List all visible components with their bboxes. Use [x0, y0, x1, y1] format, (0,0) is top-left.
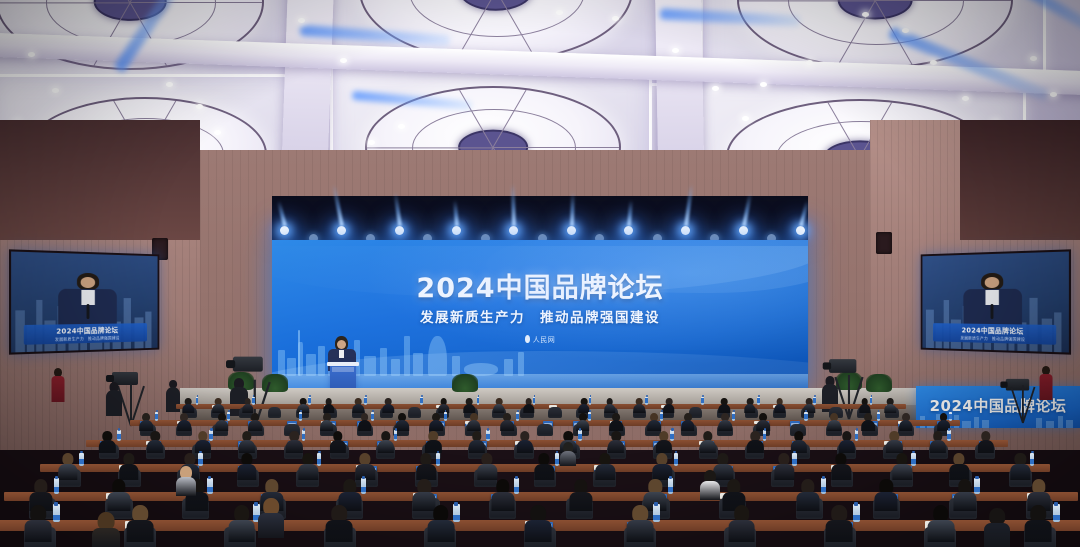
audience-member: [950, 453, 969, 479]
audience-member: [647, 413, 661, 432]
bottle-cap: [487, 428, 489, 430]
disc-spoke: [493, 147, 621, 148]
bottle-cap: [661, 410, 663, 412]
water-bottle: [804, 412, 807, 421]
attendee-body: [119, 464, 138, 480]
bottle-cap: [478, 395, 480, 397]
audience-member: [463, 398, 474, 414]
audience-member: [576, 413, 590, 432]
ceiling-downlight: [166, 82, 173, 87]
bottle-cap: [300, 410, 302, 412]
stage-lamp: [509, 226, 518, 235]
water-bottle: [853, 504, 859, 522]
audience-member: [828, 413, 842, 432]
attendee-body: [477, 464, 496, 480]
audience-member: [610, 413, 624, 432]
attendee-body: [195, 440, 211, 453]
microphone-icon: [87, 304, 90, 319]
attendee-body: [634, 404, 645, 413]
attendee-body: [238, 440, 254, 453]
attendee-body: [1025, 520, 1052, 542]
ceiling-downlight: [340, 58, 347, 63]
forum-subtitle: 发展新质生产力 推动品牌强国建设: [272, 306, 808, 326]
bottle-cap: [365, 395, 367, 397]
disc-spoke: [737, 0, 875, 1]
water-bottle: [79, 453, 83, 466]
water-bottle: [653, 504, 659, 522]
attendee-body: [1011, 464, 1030, 480]
attendee-body: [744, 404, 755, 413]
audience-member: [382, 398, 393, 414]
audience-member: [330, 431, 346, 453]
audience-member: [1025, 505, 1052, 542]
audience-desk: [86, 440, 1008, 447]
water-bottle: [516, 412, 519, 421]
audience-member: [1011, 453, 1030, 479]
side-screen-speaker-face: [81, 277, 96, 288]
stage-light-beam: [277, 200, 287, 226]
bottle-cap: [517, 410, 519, 412]
water-bottle: [855, 430, 859, 441]
side-screen-speaker-face: [985, 277, 1000, 288]
stage-lamp: [739, 226, 748, 235]
audience-member: [355, 453, 374, 479]
bottle-cap: [948, 428, 950, 430]
audience-member: [500, 413, 514, 432]
audience-member: [25, 505, 52, 542]
ceiling-downlight: [298, 18, 305, 23]
water-bottle: [821, 478, 826, 494]
ceiling-downlight: [556, 10, 563, 15]
stage-light-beam: [393, 192, 402, 226]
water-bottle: [701, 397, 704, 405]
water-bottle: [436, 453, 440, 466]
ceiling-downlight: [672, 48, 679, 53]
attendee-body: [127, 520, 154, 542]
left-side-screen: 2024中国品牌论坛 发展新质生产力 推动品牌强国建设: [9, 249, 159, 354]
right-side-screen: 2024中国品牌论坛 发展新质生产力 推动品牌强国建设: [921, 249, 1071, 354]
audience-member: [491, 479, 514, 511]
stage-plant: [866, 374, 892, 392]
attendee-body: [523, 404, 534, 413]
audience-member: [429, 413, 443, 432]
ceiling-downlight: [612, 16, 619, 21]
attendee-body: [425, 440, 441, 453]
water-bottle: [53, 504, 59, 522]
stage-light-beam: [570, 192, 575, 226]
audience-member: [535, 453, 554, 479]
bottle-cap: [764, 428, 766, 430]
audience-member: [228, 505, 255, 542]
banner-skyline-building: [974, 417, 979, 428]
banner-skyline-building: [1046, 421, 1054, 428]
conference-hall-photo: 2024中国品牌论坛 发展新质生产力 推动品牌强国建设 人民网 2024中国品牌…: [0, 0, 1080, 547]
camera-lens-icon: [1000, 382, 1007, 388]
attendee-body: [228, 520, 255, 542]
audience-member: [212, 398, 223, 414]
disc-spoke: [0, 2, 130, 3]
stage-lamp: [796, 226, 805, 235]
bottle-cap: [515, 476, 518, 479]
bottle-cap: [675, 451, 678, 454]
bottle-cap: [228, 410, 230, 412]
water-bottle: [196, 397, 199, 405]
ceiling-downlight: [742, 116, 749, 121]
operator-body: [106, 390, 122, 416]
audience-member: [183, 398, 194, 414]
stage-light-beam: [453, 200, 459, 226]
bottle-cap: [814, 395, 816, 397]
ceiling-downlight: [196, 104, 203, 109]
audience-member: [147, 431, 163, 453]
speaker-shirt: [339, 350, 344, 358]
attendee-body: [535, 464, 554, 480]
water-bottle: [477, 397, 480, 405]
bottle-cap: [556, 451, 559, 454]
audience-member: [569, 479, 592, 511]
right-wall-shadow: [960, 120, 1080, 240]
bottle-cap: [854, 502, 858, 506]
attendee-body: [627, 520, 654, 542]
audience-member: [747, 431, 763, 453]
audience-member: [656, 431, 672, 453]
attendee-body: [663, 404, 674, 413]
ceiling-downlight: [930, 60, 937, 65]
attendee-white-shirt: [700, 470, 720, 500]
water-bottle: [668, 478, 673, 494]
attendee-body: [99, 440, 115, 453]
attendee-body: [608, 440, 624, 453]
water-bottle: [514, 478, 519, 494]
audience-member: [467, 413, 481, 432]
attendee-body: [237, 464, 256, 480]
stage-light-beam: [799, 200, 809, 226]
audience-member: [627, 505, 654, 542]
water-bottle: [444, 412, 447, 421]
attendee-body: [298, 464, 317, 480]
stage-plant: [452, 374, 478, 392]
video-camera: [1006, 379, 1029, 391]
audience-member: [699, 431, 715, 453]
bottle-cap: [1031, 451, 1034, 454]
ceiling-downlight: [902, 28, 909, 33]
audience-member: [493, 398, 504, 414]
water-bottle: [947, 430, 951, 441]
attendee-body: [875, 492, 898, 511]
audience-member: [358, 413, 372, 432]
audience-member: [608, 431, 624, 453]
side-screen-speaker-shirt: [81, 289, 94, 304]
attendee-body: [610, 420, 624, 431]
attendee-body: [58, 464, 77, 480]
logo-text: 人民网: [533, 336, 556, 344]
attendee-body: [656, 440, 672, 453]
attendee-body: [719, 420, 733, 431]
banner-skyline-building: [982, 420, 989, 428]
attendee-body: [796, 492, 819, 511]
disc-spoke: [130, 2, 264, 3]
attendee-body: [382, 404, 393, 413]
water-bottle: [1030, 453, 1034, 466]
audience-member: [744, 398, 755, 414]
attendee-body: [930, 440, 946, 453]
attendee-body: [258, 513, 284, 538]
water-bottle: [645, 397, 648, 405]
attendee-body: [828, 420, 842, 431]
bottle-cap: [646, 395, 648, 397]
attendee-body: [525, 520, 552, 542]
attendee-body: [377, 440, 393, 453]
audience-member: [238, 431, 254, 453]
audience-member: [438, 398, 449, 414]
podium-top-surface: [327, 362, 359, 366]
audience-member: [140, 413, 154, 432]
stage-lamp: [624, 226, 633, 235]
water-bottle: [757, 397, 760, 405]
water-bottle: [578, 430, 582, 441]
attendee-body: [885, 404, 896, 413]
attendee-body: [700, 481, 720, 500]
audience-member: [425, 431, 441, 453]
attendee-front-right: [984, 508, 1010, 547]
attendee-body: [427, 520, 454, 542]
bottle-cap: [669, 476, 672, 479]
audience-member: [119, 453, 138, 479]
bottle-cap: [702, 395, 704, 397]
attendee-body: [416, 464, 435, 480]
attendee-body: [899, 420, 913, 431]
disc-spoke: [875, 0, 1013, 1]
bottle-cap: [309, 395, 311, 397]
audience-member: [215, 413, 229, 432]
disc-spoke: [365, 147, 493, 148]
audience-member: [719, 398, 730, 414]
banner-skyline-building: [1036, 418, 1042, 428]
ceiling-downlight: [368, 140, 375, 145]
banner-skyline-building: [1066, 420, 1073, 428]
audience-member: [596, 453, 615, 479]
banner-skyline-building: [1058, 416, 1063, 428]
attendee-body: [775, 464, 794, 480]
water-bottle: [117, 430, 121, 441]
attendee-body: [647, 420, 661, 431]
side-screen-lower-third: 2024中国品牌论坛 发展新质生产力 推动品牌强国建设: [933, 323, 1056, 345]
audience-member: [886, 431, 902, 453]
ceiling-downlight: [52, 88, 59, 93]
disc-inner-ring: [788, 0, 964, 45]
banner-skyline-building: [962, 421, 971, 428]
attendee-body: [326, 520, 353, 542]
usher-uniform: [1040, 374, 1053, 400]
camera-lens-icon: [226, 360, 235, 368]
audience-member: [978, 431, 994, 453]
audience-member: [930, 431, 946, 453]
bottle-cap: [758, 395, 760, 397]
attendee-body: [560, 451, 576, 466]
attendee-body: [215, 420, 229, 431]
attendee-body: [177, 420, 191, 431]
bottle-cap: [822, 476, 825, 479]
audience-member: [242, 398, 253, 414]
attendee-body: [978, 440, 994, 453]
audience-member: [832, 453, 851, 479]
attendee-body: [25, 520, 52, 542]
audience-member: [177, 413, 191, 432]
bottle-cap: [589, 410, 591, 412]
audience-member: [953, 479, 976, 511]
audience-member: [927, 505, 954, 542]
stage-lamp: [280, 226, 289, 235]
water-bottle: [453, 504, 459, 522]
camera-operator: [106, 382, 122, 416]
left-wall-shadow: [0, 120, 200, 240]
audience-member: [469, 431, 485, 453]
attendee-light-jacket: [176, 466, 196, 496]
attendee-body: [699, 440, 715, 453]
audience-member: [286, 431, 302, 453]
attendee-body: [747, 440, 763, 453]
camera-lens-icon: [823, 362, 831, 369]
audience-member: [127, 505, 154, 542]
water-bottle: [364, 397, 367, 405]
side-screen-speaker-shirt: [985, 289, 998, 304]
audience-member: [826, 505, 853, 542]
water-bottle: [877, 412, 880, 421]
water-bottle: [555, 453, 559, 466]
attendee-body: [774, 404, 785, 413]
audience-member: [237, 453, 256, 479]
logo-mark-icon: [525, 335, 530, 343]
audience-member: [774, 398, 785, 414]
ceiling-downlight: [862, 12, 869, 17]
attendee-body: [92, 528, 120, 547]
audience-member: [604, 398, 615, 414]
attendee-front-left: [92, 512, 120, 547]
attendee-body: [429, 420, 443, 431]
water-bottle: [299, 412, 302, 421]
audience-member: [195, 431, 211, 453]
audience-member: [249, 413, 263, 432]
attendee-body: [953, 492, 976, 511]
stage-lamp: [337, 226, 346, 235]
attendee-body: [176, 477, 196, 496]
attendee-body: [893, 464, 912, 480]
bottle-cap: [654, 502, 658, 506]
attendee-body: [469, 440, 485, 453]
audience-chair: [408, 407, 422, 417]
attendee-body: [681, 420, 695, 431]
ceiling-downlight: [1050, 92, 1057, 97]
bottle-cap: [303, 428, 305, 430]
audience-member: [478, 453, 497, 479]
audience-member: [893, 453, 912, 479]
video-camera: [233, 357, 263, 372]
attendee-body: [861, 420, 875, 431]
audience-chair: [548, 407, 562, 417]
audience-member: [427, 505, 454, 542]
audience-member: [378, 431, 394, 453]
usher-uniform: [52, 376, 65, 402]
audience-member: [523, 398, 534, 414]
bottle-cap: [372, 410, 374, 412]
attendee-body: [838, 440, 854, 453]
stage-light-beam: [627, 200, 633, 226]
bottle-cap: [395, 428, 397, 430]
audience-member: [517, 431, 533, 453]
bottle-cap: [805, 410, 807, 412]
audience-member: [681, 413, 695, 432]
audience-member: [634, 398, 645, 414]
bottle-cap: [733, 410, 735, 412]
attendee-body: [147, 440, 163, 453]
attendee-body: [826, 520, 853, 542]
wall-vent: [876, 232, 892, 254]
water-bottle: [486, 430, 490, 441]
attendee-body: [569, 492, 592, 511]
attendee-long-hair: [258, 498, 284, 538]
audience-member: [353, 398, 364, 414]
audience-member: [861, 413, 875, 432]
podium-and-speaker: [322, 336, 364, 392]
bottle-cap: [950, 410, 952, 412]
attendee-grey-jacket: [560, 442, 576, 466]
attendee-body: [886, 440, 902, 453]
attendee-body: [596, 464, 615, 480]
attendee-body: [728, 520, 755, 542]
water-bottle: [1053, 504, 1059, 522]
stage-lamp: [395, 226, 404, 235]
ceiling-downlight: [1030, 56, 1037, 61]
bottle-cap: [80, 451, 83, 454]
audience-member: [58, 453, 77, 479]
audience-member: [298, 453, 317, 479]
attendee-body: [467, 420, 481, 431]
bottle-cap: [55, 476, 58, 479]
attendee-body: [358, 420, 372, 431]
water-bottle: [155, 412, 158, 421]
audience-member: [885, 398, 896, 414]
side-screen-lower-third: 2024中国品牌论坛 发展新质生产力 推动品牌强国建设: [24, 323, 147, 345]
audience-desk: [176, 404, 906, 409]
stage-lamp: [567, 226, 576, 235]
bottle-cap: [871, 395, 873, 397]
bottle-cap: [534, 395, 536, 397]
audience-member: [796, 479, 819, 511]
stage-lamp: [452, 226, 461, 235]
water-bottle: [420, 397, 423, 405]
bottle-cap: [1054, 502, 1058, 506]
video-camera: [829, 359, 856, 373]
audience-member: [875, 479, 898, 511]
audience-member: [775, 453, 794, 479]
ceiling-downlight: [760, 82, 767, 87]
audience-member: [899, 413, 913, 432]
ceiling-downlight: [712, 86, 719, 91]
stage-light-beam: [742, 192, 752, 226]
bottle-cap: [421, 395, 423, 397]
audience-chair: [537, 424, 553, 436]
microphone-icon: [991, 304, 994, 319]
bottle-cap: [318, 451, 321, 454]
audience-member: [839, 431, 855, 453]
bottle-cap: [856, 428, 858, 430]
audience-member: [791, 431, 807, 453]
audience-member: [395, 413, 409, 432]
forum-headline: 2024中国品牌论坛: [272, 266, 808, 305]
bottle-cap: [54, 502, 58, 506]
bottle-cap: [454, 502, 458, 506]
audience-member: [323, 398, 334, 414]
